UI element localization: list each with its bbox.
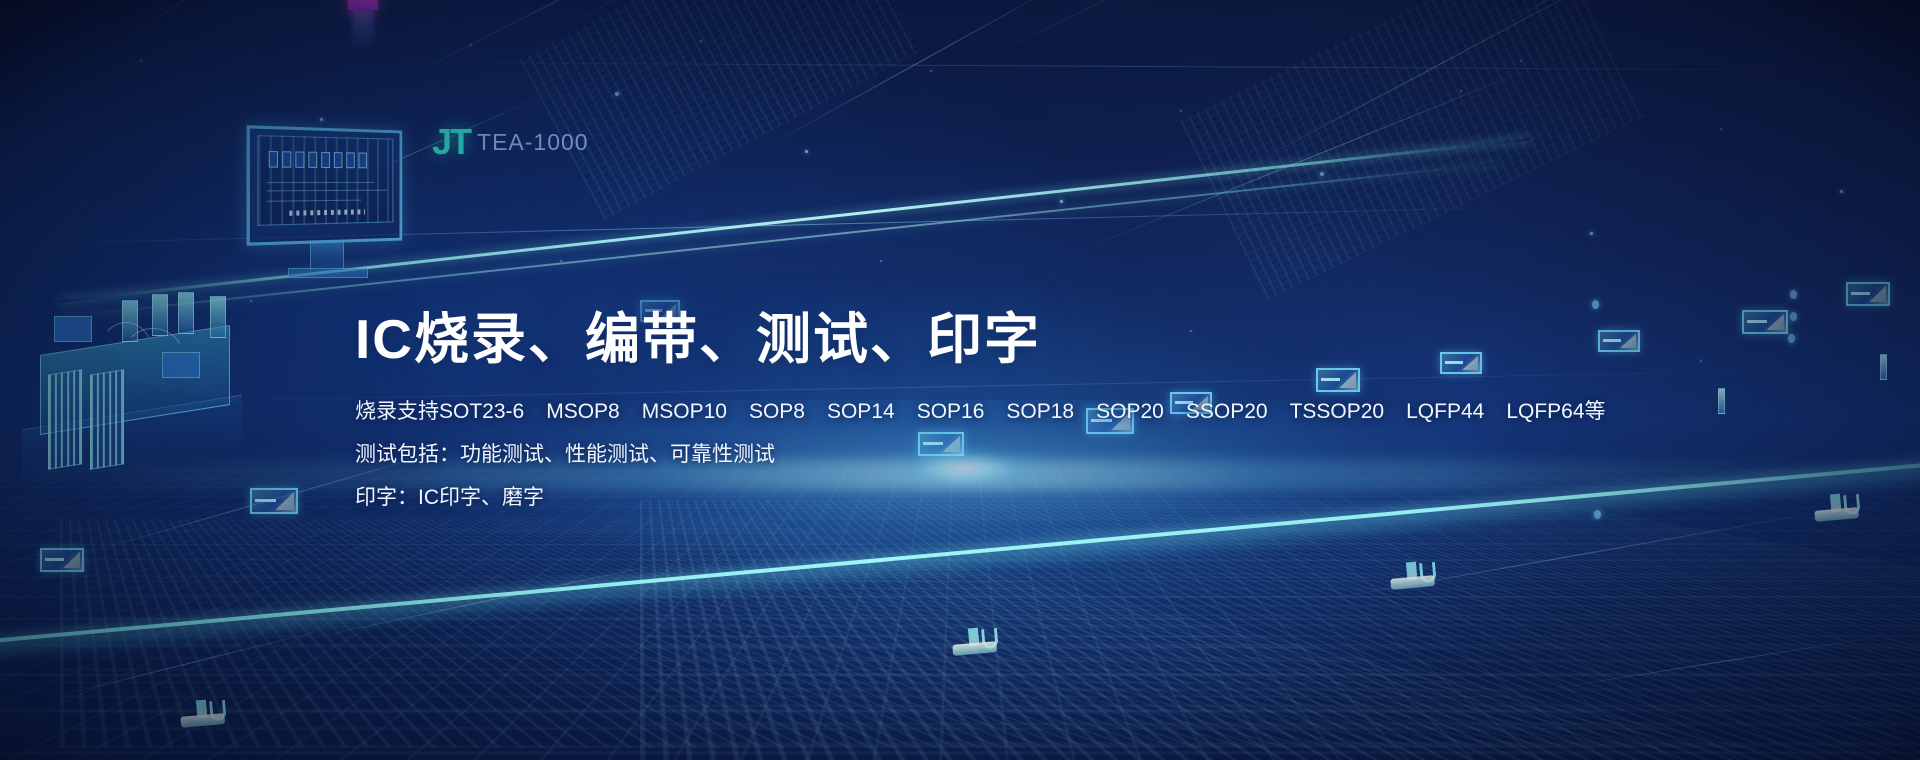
rail-mount-4 [1813, 492, 1859, 522]
machine-cylinder-4 [210, 296, 226, 338]
package-sop18: SOP18 [1006, 401, 1074, 422]
packages-line: 烧录支持SOT23-6 MSOP8 MSOP10 SOP8 SOP14 SOP1… [355, 401, 1655, 422]
status-dot-4 [1592, 300, 1599, 309]
package-sop14: SOP14 [827, 401, 895, 422]
rail-mount-1 [179, 698, 225, 728]
chip-glyph [282, 151, 291, 168]
floating-chip-10 [1846, 282, 1890, 306]
top-accent-glow [352, 8, 374, 52]
package-sop20: SOP20 [1096, 401, 1164, 422]
status-dot-3 [1788, 334, 1795, 343]
package-tssop20: TSSOP20 [1290, 401, 1385, 422]
chip-glyph [346, 152, 355, 168]
packages-lead: 烧录支持SOT23-6 [355, 401, 524, 422]
brand-model: TEA-1000 [477, 131, 589, 154]
brand-mark: JT [432, 124, 470, 160]
page-title: IC烧录、编带、测试、印字 [355, 310, 1655, 369]
package-ssop20: SSOP20 [1186, 401, 1268, 422]
rail-mount-2 [951, 626, 997, 656]
monitor-line [267, 182, 375, 183]
monitor-stand [310, 240, 344, 270]
status-bar-1 [1718, 388, 1725, 414]
monitor-chip-row [269, 151, 367, 168]
package-msop10: MSOP10 [642, 401, 727, 422]
package-lqfp44: LQFP44 [1406, 401, 1484, 422]
top-accent-light [348, 0, 378, 10]
package-lqfp64: LQFP64等 [1506, 401, 1605, 422]
status-bar-2 [1880, 354, 1887, 380]
monitor-foot [288, 268, 368, 278]
chip-glyph [334, 152, 343, 168]
chip-glyph [295, 151, 304, 167]
chip-glyph [269, 151, 278, 168]
monitor-footer-label [289, 209, 365, 215]
monitor-illustration [248, 128, 408, 243]
machine-illustration [10, 280, 270, 480]
machine-box-left [54, 316, 92, 342]
status-dot-2 [1790, 312, 1797, 321]
banner-content: IC烧录、编带、测试、印字 烧录支持SOT23-6 MSOP8 MSOP10 S… [355, 310, 1655, 530]
testing-line: 测试包括：功能测试、性能测试、可靠性测试 [355, 444, 1655, 465]
machine-fin-left [48, 369, 82, 469]
package-sop8: SOP8 [749, 401, 805, 422]
chip-glyph [321, 152, 330, 168]
machine-fin-right [90, 369, 124, 469]
monitor-line [267, 190, 387, 192]
brand-logo: JT TEA-1000 [432, 124, 589, 160]
package-list: 烧录支持SOT23-6 MSOP8 MSOP10 SOP8 SOP14 SOP1… [355, 401, 1606, 422]
package-msop8: MSOP8 [546, 401, 620, 422]
rail-mount-3 [1389, 560, 1435, 590]
chip-glyph [308, 152, 317, 168]
machine-cylinder-3 [178, 292, 194, 334]
detail-lines: 烧录支持SOT23-6 MSOP8 MSOP10 SOP8 SOP14 SOP1… [355, 401, 1655, 508]
package-sop16: SOP16 [917, 401, 985, 422]
hero-banner: JT TEA-1000 [0, 0, 1920, 760]
floating-chip-9 [1742, 310, 1788, 334]
marking-line: 印字：IC印字、磨字 [355, 487, 1655, 508]
monitor-screen [257, 135, 393, 226]
status-dot-1 [1790, 290, 1797, 299]
chip-glyph [358, 153, 366, 169]
monitor-line [267, 200, 362, 202]
